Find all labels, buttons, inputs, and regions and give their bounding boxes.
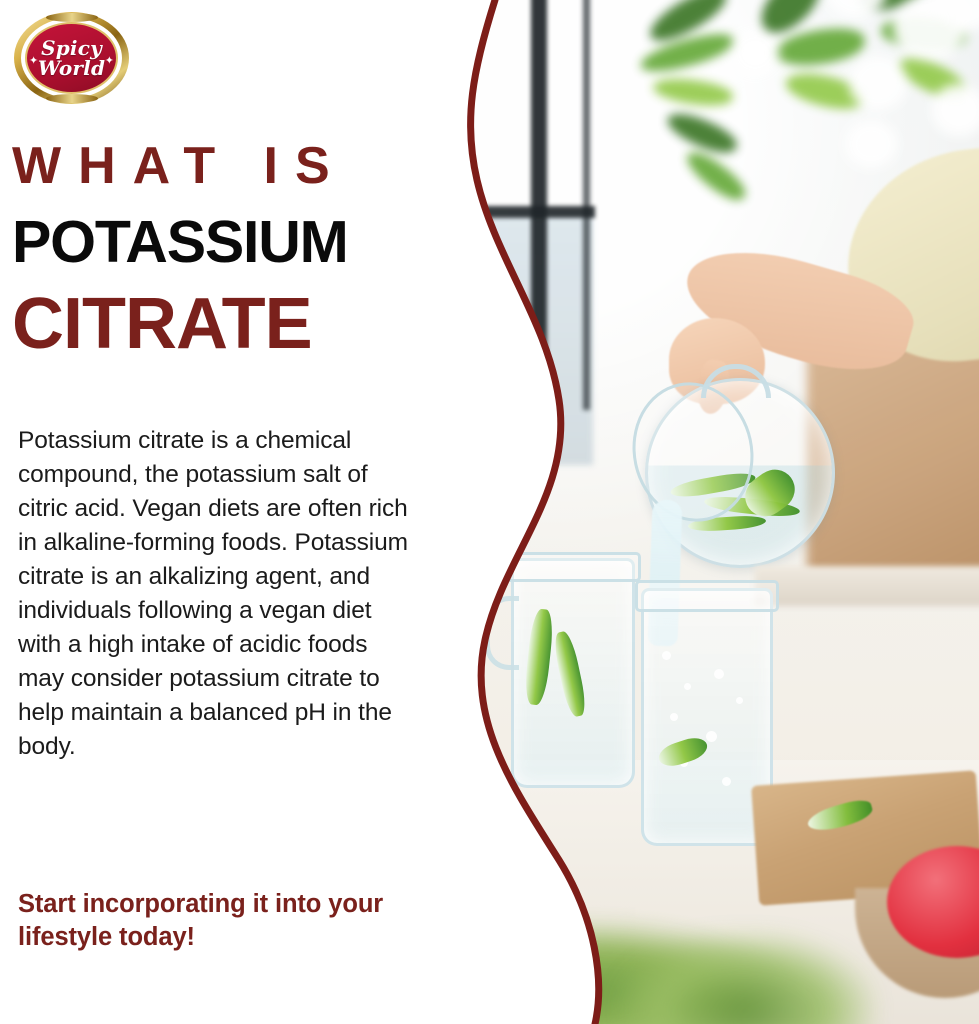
call-to-action-text: Start incorporating it into your lifesty… <box>18 888 448 954</box>
window-frame-horizontal <box>455 206 595 218</box>
logo-line-2: World <box>38 58 105 78</box>
mason-jar-left <box>511 558 635 788</box>
mason-jar-left-neck <box>505 552 641 582</box>
logo-sparkle-right-icon: ✦ <box>105 56 114 67</box>
text-panel: Spicy World ✦ ✦ WHAT IS POTASSIUM CITRAT… <box>0 0 455 1024</box>
headline-line-3: CITRATE <box>12 288 312 360</box>
window-pane <box>455 215 593 465</box>
photo-background <box>455 0 979 1024</box>
mason-jar-handle <box>485 596 519 670</box>
herbs-foreground-2 <box>615 934 875 1024</box>
spicy-world-logo-icon[interactable]: Spicy World ✦ ✦ <box>14 12 129 104</box>
logo-sparkle-left-icon: ✦ <box>29 56 38 67</box>
infographic-poster: Spicy World ✦ ✦ WHAT IS POTASSIUM CITRAT… <box>0 0 979 1024</box>
hero-photo <box>455 0 979 1024</box>
window-frame-vertical-2 <box>583 0 590 410</box>
mason-jar-right-neck <box>635 580 779 612</box>
counter-edge <box>755 566 979 606</box>
body-paragraph: Potassium citrate is a chemical compound… <box>18 424 416 764</box>
logo-line-1: Spicy <box>41 38 102 58</box>
headline-line-1: WHAT IS <box>12 140 347 192</box>
headline-line-2: POTASSIUM <box>12 213 348 272</box>
